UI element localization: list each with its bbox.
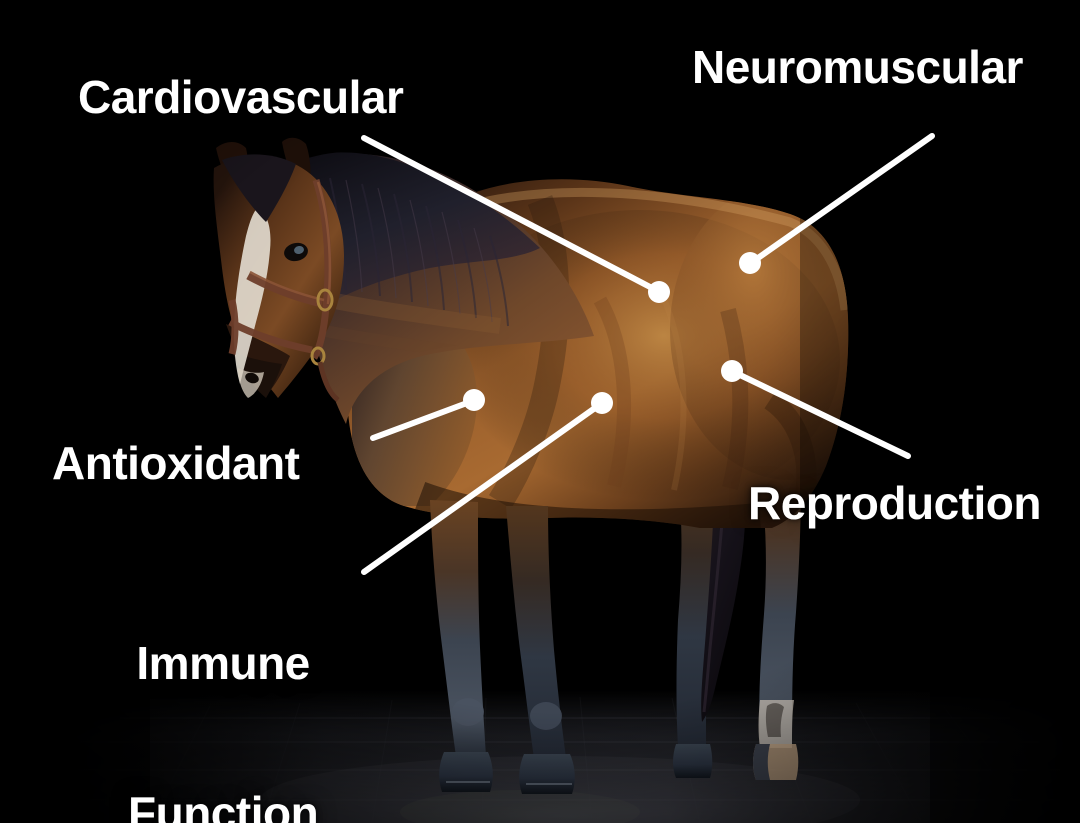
callout-dot-neuromuscular: [739, 252, 761, 274]
callout-dot-immune-function: [591, 392, 613, 414]
callout-antioxidant[interactable]: [373, 389, 485, 438]
callout-reproduction[interactable]: [721, 360, 908, 456]
callout-line-cardiovascular: [364, 138, 652, 288]
label-cardiovascular: Cardiovascular: [78, 72, 403, 122]
callout-dot-cardiovascular: [648, 281, 670, 303]
label-immune-function: Immune Function: [128, 538, 318, 823]
callout-line-antioxidant: [373, 403, 467, 438]
callout-line-immune-function: [364, 408, 595, 572]
callout-line-reproduction: [740, 375, 908, 456]
label-neuromuscular: Neuromuscular: [692, 42, 1023, 92]
callout-dot-antioxidant: [463, 389, 485, 411]
label-antioxidant: Antioxidant: [52, 438, 299, 488]
infographic-canvas: Cardiovascular Neuromuscular Antioxidant…: [0, 0, 1080, 823]
callout-neuromuscular[interactable]: [739, 136, 932, 274]
callout-immune-function[interactable]: [364, 392, 613, 572]
callout-cardiovascular[interactable]: [364, 138, 670, 303]
label-reproduction: Reproduction: [748, 478, 1041, 528]
label-immune-line2: Function: [128, 788, 318, 823]
label-immune-line1: Immune: [128, 638, 318, 688]
callout-dot-reproduction: [721, 360, 743, 382]
callout-line-neuromuscular: [758, 136, 932, 258]
